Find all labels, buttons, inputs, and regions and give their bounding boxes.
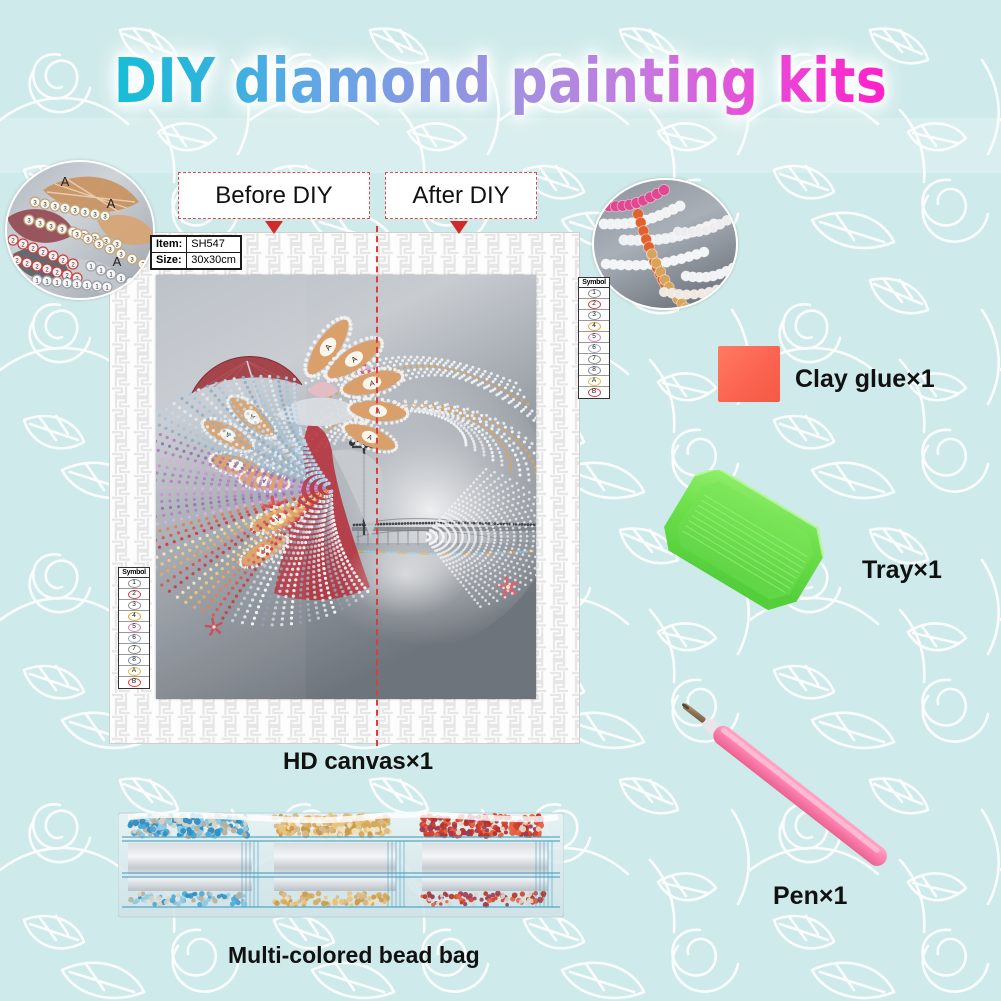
info-item-key: Item: [152, 237, 187, 253]
legend-row: 6 [119, 633, 149, 644]
legend-row: 5 [119, 622, 149, 633]
legend-row: 3 [119, 600, 149, 611]
legend-symbol: 2 [588, 300, 601, 309]
legend-header: Symbol [119, 568, 149, 578]
legend-row: 7 [119, 644, 149, 655]
arrow-after-icon [450, 221, 468, 234]
legend-symbol: 6 [128, 634, 141, 643]
legend-row: 2 [119, 589, 149, 600]
before-after-divider [376, 226, 378, 746]
label-clay-glue: Clay glue×1 [795, 365, 935, 394]
svg-text:A: A [61, 174, 70, 189]
background-highlight-band [0, 118, 1001, 173]
callout-after-diy: After DIY [385, 172, 537, 219]
label-pen: Pen×1 [773, 882, 847, 911]
symbol-legend-left: Symbol 12345678AB [118, 567, 150, 689]
info-item-value: SH547 [187, 237, 241, 253]
legend-symbol: 4 [588, 322, 601, 331]
legend-symbol: 7 [128, 645, 141, 654]
callout-after-label: After DIY [412, 182, 509, 210]
info-size-key: Size: [152, 253, 187, 269]
callout-before-label: Before DIY [215, 182, 332, 210]
canvas-artwork: AAAAAAAAAAA [156, 275, 536, 699]
legend-row: 2 [579, 299, 609, 310]
legend-row: A [119, 666, 149, 677]
legend-row: B [119, 677, 149, 688]
symbol-legend-right: Symbol 12345678AB [578, 277, 610, 399]
tray-image [648, 470, 838, 620]
callout-before-diy: Before DIY [178, 172, 370, 219]
bead-bag-foil-label [422, 843, 548, 891]
legend-rows: 12345678AB [119, 578, 149, 688]
legend-header: Symbol [579, 278, 609, 288]
legend-row: 1 [119, 578, 149, 589]
legend-symbol: 4 [128, 612, 141, 621]
hd-canvas-product: AAAAAAAAAAA [109, 232, 580, 744]
legend-symbol: 6 [588, 344, 601, 353]
page-title-wrap: DIY diamond painting kits [0, 50, 1001, 105]
label-hd-canvas: HD canvas×1 [283, 748, 433, 776]
page-title: DIY diamond painting kits [114, 50, 888, 114]
bead-bag-foil-label [274, 843, 396, 891]
legend-row: 7 [579, 354, 609, 365]
legend-row: 4 [119, 611, 149, 622]
closeup-before-diy-icon: 3333333333333333322222222222222111111113… [5, 160, 155, 300]
poster-root: DIY diamond painting kits Before DIY Aft… [0, 0, 1001, 1001]
legend-row: 6 [579, 343, 609, 354]
legend-symbol: 7 [588, 355, 601, 364]
info-row-item: Item: SH547 [152, 237, 241, 253]
legend-symbol: A [588, 377, 601, 386]
legend-row: A [579, 376, 609, 387]
legend-row: 5 [579, 332, 609, 343]
legend-symbol: 3 [588, 311, 601, 320]
label-bead-bag: Multi-colored bead bag [228, 942, 480, 969]
legend-row: 3 [579, 310, 609, 321]
legend-rows: 12345678AB [579, 288, 609, 398]
label-tray: Tray×1 [862, 556, 942, 585]
legend-symbol: 1 [128, 579, 141, 588]
legend-symbol: A [128, 667, 141, 676]
legend-row: 8 [579, 365, 609, 376]
product-info-table: Item: SH547 Size: 30x30cm [150, 235, 242, 270]
arrow-before-icon [265, 221, 283, 234]
legend-symbol: 8 [588, 366, 601, 375]
bead-bag-foil-label [128, 843, 252, 891]
legend-row: 1 [579, 288, 609, 299]
bead-bags-image [118, 807, 564, 927]
legend-symbol: 2 [128, 590, 141, 599]
legend-symbol: 5 [128, 623, 141, 632]
legend-row: B [579, 387, 609, 398]
legend-symbol: 8 [128, 656, 141, 665]
legend-symbol: 1 [588, 289, 601, 298]
legend-symbol: 5 [588, 333, 601, 342]
svg-text:A: A [107, 196, 116, 211]
legend-row: 4 [579, 321, 609, 332]
legend-symbol: 3 [128, 601, 141, 610]
legend-symbol: B [588, 388, 601, 397]
pen-image [650, 690, 950, 905]
svg-text:A: A [113, 254, 122, 269]
info-size-value: 30x30cm [187, 253, 241, 269]
info-row-size: Size: 30x30cm [152, 253, 241, 269]
clay-glue-swatch [718, 346, 780, 402]
legend-row: 8 [119, 655, 149, 666]
legend-symbol: B [128, 678, 141, 687]
closeup-after-diy-icon [592, 178, 738, 310]
